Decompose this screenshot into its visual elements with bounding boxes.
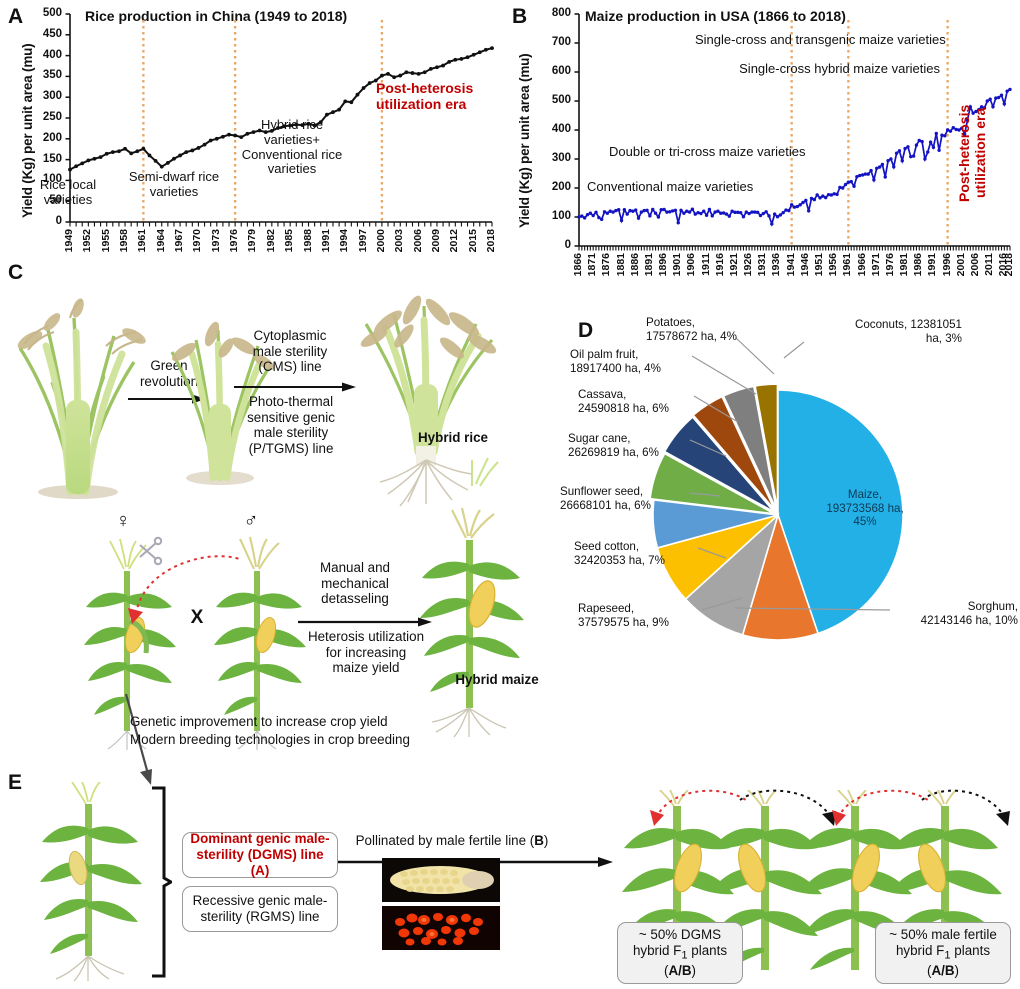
f1-transfer-arrow-black-2: [916, 782, 1020, 832]
hybrid-maize-plant-illustration: [412, 508, 532, 738]
ptgms-line-label: Photo-thermalsensitive genicmale sterili…: [232, 394, 350, 457]
pie-label: Seed cotton,32420353 ha, 7%: [574, 540, 694, 567]
crop-area-pie-chart: Maize,193733568 ha,45%Sorghum,42143146 h…: [560, 310, 1020, 660]
rice-production-chart: Yield (Kg) per unit area (mu) Rice produ…: [0, 0, 505, 285]
cms-line-label: Cytoplasmicmale sterility(CMS) line: [236, 328, 344, 375]
chart-a-annotation-hybrid-rice: Hybrid rice varieties+ Conventional rice…: [240, 118, 344, 177]
f1-transfer-arrow-black-1: [734, 782, 844, 832]
pollinated-by-male-fertile-label: Pollinated by male fertile line (B): [340, 833, 564, 849]
panel-label-c: C: [8, 262, 23, 283]
chart-b-annotation-single-cross: Single-cross hybrid maize varieties: [628, 62, 940, 77]
figure-canvas: A Yield (Kg) per unit area (mu) Rice pro…: [0, 0, 1020, 989]
chart-b-annotation-post-heterosis: Post-heterosis utilization era: [956, 78, 988, 228]
chart-a-annotation-post-heterosis: Post-heterosis utilization era: [376, 80, 494, 112]
maize-ear-white-light-photo: [382, 858, 500, 902]
pie-label: Rapeseed,37579575 ha, 9%: [578, 602, 700, 629]
dgms-line-box[interactable]: Dominant genic male-sterility (DGMS) lin…: [182, 832, 338, 878]
pie-label: Cassava,24590818 ha, 6%: [578, 388, 690, 415]
maize-ear-red-fluorescence-photo: [382, 906, 500, 950]
hybrid-rice-label: Hybrid rice: [398, 430, 508, 446]
pie-label: Sorghum,42143146 ha, 10%: [890, 600, 1018, 627]
pie-label: Potatoes,17578672 ha, 4%: [646, 316, 776, 343]
result-box-male-fertile-hybrid[interactable]: ~ 50% male fertile hybrid F1 plants (A/B…: [875, 922, 1011, 984]
pie-label: Oil palm fruit,18917400 ha, 4%: [570, 348, 690, 375]
result-box-male-fertile-hybrid-text: ~ 50% male fertile hybrid F1 plants (A/B…: [882, 927, 1004, 979]
chart-a-annotation-rice-local: Rice local varieties: [22, 178, 114, 208]
bridge-text-line1: Genetic improvement to increase crop yie…: [130, 714, 530, 730]
pie-label: Sugar cane,26269819 ha, 6%: [568, 432, 686, 459]
female-symbol: ♀: [110, 510, 136, 533]
chart-a-annotation-semi-dwarf: Semi-dwarf rice varieties: [128, 170, 220, 200]
rgms-line-box[interactable]: Recessive genic male-sterility (RGMS) li…: [182, 886, 338, 932]
cms-ptgms-arrow: [232, 380, 362, 394]
chart-b-annotation-transgenic: Single-cross and transgenic maize variet…: [695, 33, 1020, 48]
detasseling-label: Manual andmechanicaldetasseling: [300, 560, 410, 607]
hybrid-maize-label: Hybrid maize: [442, 672, 552, 688]
chart-b-annotation-conventional: Conventional maize varieties: [587, 180, 787, 195]
result-box-dgms-hybrid[interactable]: ~ 50% DGMS hybrid F1 plants (A/B): [617, 922, 743, 984]
pie-label: Coconuts, 12381051ha, 3%: [802, 318, 962, 345]
bridge-text-line2: Modern breeding technologies in crop bre…: [130, 732, 550, 748]
maize-production-chart: Yield (Kg) per unit area (mu) Maize prod…: [505, 0, 1020, 290]
pie-label: Maize,193733568 ha,45%: [810, 488, 920, 529]
male-symbol: ♂: [238, 510, 264, 533]
result-box-dgms-hybrid-text: ~ 50% DGMS hybrid F1 plants (A/B): [624, 927, 736, 979]
maize-sterile-line-plant-illustration: [30, 782, 150, 982]
chart-b-annotation-double-tricross: Double or tri-cross maize varieties: [609, 145, 841, 160]
hybrid-rice-plant-illustration: [352, 288, 502, 508]
grouping-brace: [146, 784, 172, 980]
pie-label: Sunflower seed,26668101 ha, 6%: [560, 485, 686, 512]
panel-label-e: E: [8, 772, 22, 793]
